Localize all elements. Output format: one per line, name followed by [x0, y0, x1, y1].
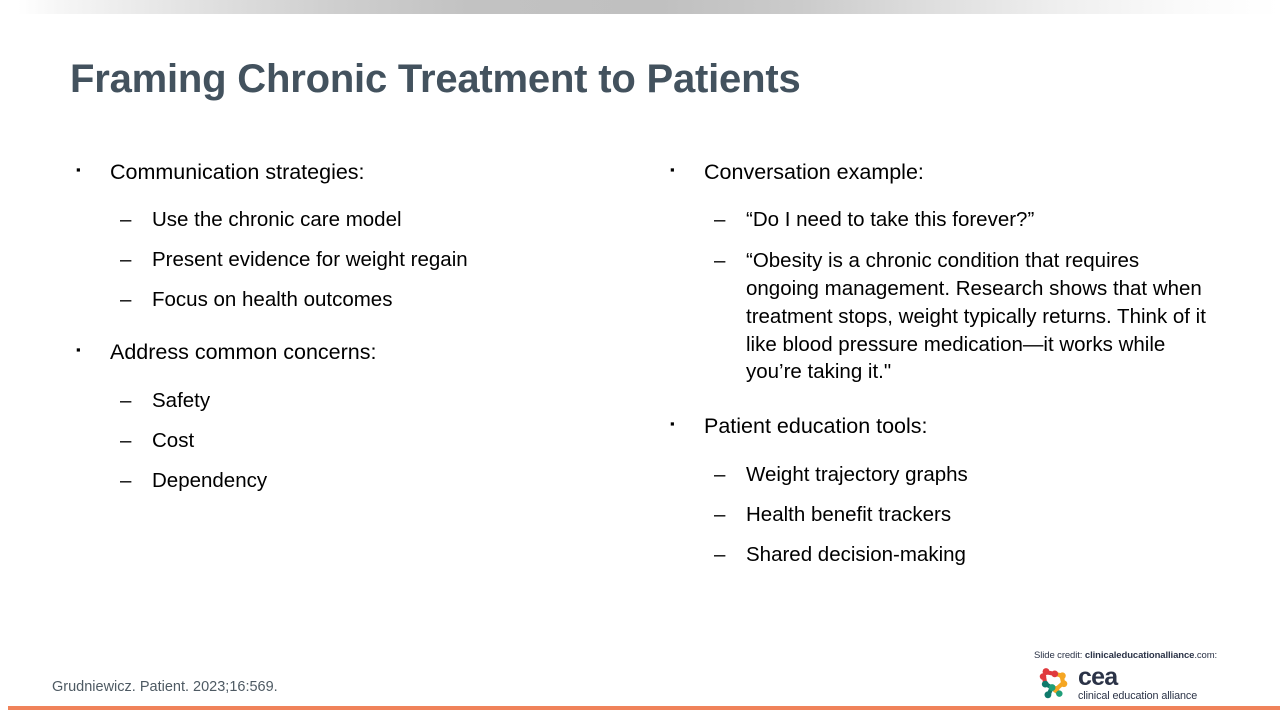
bullet-level2-present-evidence: – Present evidence for weight regain: [70, 247, 630, 272]
bullet-label: Dependency: [152, 469, 267, 492]
bullet-label: Safety: [152, 389, 210, 412]
square-bullet-icon: ▪: [670, 414, 675, 434]
slide-credit-text: Slide credit: clinicaleducationalliance.…: [1034, 650, 1234, 661]
dash-bullet-icon: –: [714, 542, 725, 567]
square-bullet-icon: ▪: [670, 160, 675, 180]
bullet-label: Address common concerns:: [110, 340, 376, 364]
bullet-label: “Do I need to take this forever?”: [746, 208, 1034, 231]
bullet-label: Shared decision-making: [746, 543, 966, 566]
slide-credit-prefix: Slide credit:: [1034, 650, 1082, 661]
dash-bullet-icon: –: [714, 462, 725, 487]
bullet-level2-health-benefit-trackers: – Health benefit trackers: [664, 502, 1209, 527]
slide-credit-suffix: .com:: [1194, 650, 1217, 661]
bullet-label: Cost: [152, 429, 194, 452]
cea-logo-word: cea: [1078, 665, 1197, 690]
bottom-accent-rule: [8, 706, 1280, 710]
bullet-label: “Obesity is a chronic condition that req…: [746, 249, 1206, 383]
source-citation: Grudniewicz. Patient. 2023;16:569.: [52, 679, 278, 695]
bullet-label: Conversation example:: [704, 160, 924, 184]
bullet-label: Communication strategies:: [110, 160, 365, 184]
page-title: Framing Chronic Treatment to Patients: [70, 57, 801, 102]
bullet-level2-chronic-care-model: – Use the chronic care model: [70, 207, 630, 232]
left-content-column: ▪ Communication strategies: – Use the ch…: [70, 160, 630, 508]
bullet-level2-weight-trajectory-graphs: – Weight trajectory graphs: [664, 462, 1209, 487]
bullet-label: Present evidence for weight regain: [152, 248, 468, 271]
bullet-label: Patient education tools:: [704, 414, 928, 438]
bullet-level1-patient-education-tools: ▪ Patient education tools:: [664, 414, 1209, 439]
bullet-level1-communication-strategies: ▪ Communication strategies:: [70, 160, 630, 185]
square-bullet-icon: ▪: [76, 340, 81, 360]
slide-credit-domain: clinicaleducationalliance: [1085, 650, 1194, 661]
top-gradient-band: [0, 0, 1280, 14]
dash-bullet-icon: –: [714, 502, 725, 527]
bullet-label: Focus on health outcomes: [152, 288, 392, 311]
dash-bullet-icon: –: [714, 247, 725, 275]
bullet-level2-dependency: – Dependency: [70, 468, 630, 493]
bullet-level2-shared-decision-making: – Shared decision-making: [664, 542, 1209, 567]
right-content-column: ▪ Conversation example: – “Do I need to …: [664, 160, 1209, 582]
dash-bullet-icon: –: [120, 287, 131, 312]
dash-bullet-icon: –: [120, 388, 131, 413]
bullet-level2-cost: – Cost: [70, 428, 630, 453]
bullet-label: Weight trajectory graphs: [746, 463, 968, 486]
dash-bullet-icon: –: [120, 247, 131, 272]
cea-wordmark: cea clinical education alliance: [1078, 665, 1197, 702]
cea-logo-tagline: clinical education alliance: [1078, 691, 1197, 702]
bullet-level1-address-common-concerns: ▪ Address common concerns:: [70, 340, 630, 365]
cea-logo: cea clinical education alliance: [1034, 664, 1234, 702]
bullet-label: Use the chronic care model: [152, 208, 402, 231]
bullet-level2-safety: – Safety: [70, 388, 630, 413]
bullet-level2-quote-forever: – “Do I need to take this forever?”: [664, 207, 1209, 232]
square-bullet-icon: ▪: [76, 160, 81, 180]
bullet-label: Health benefit trackers: [746, 503, 951, 526]
cea-molecule-logo-icon: [1034, 664, 1074, 702]
dash-bullet-icon: –: [120, 207, 131, 232]
slide: Framing Chronic Treatment to Patients ▪ …: [0, 0, 1280, 720]
bullet-level1-conversation-example: ▪ Conversation example:: [664, 160, 1209, 185]
bullet-level2-quote-chronic-condition: – “Obesity is a chronic condition that r…: [664, 247, 1209, 386]
dash-bullet-icon: –: [714, 207, 725, 232]
bullet-level2-health-outcomes: – Focus on health outcomes: [70, 287, 630, 312]
slide-credit-block: Slide credit: clinicaleducationalliance.…: [1034, 650, 1234, 702]
dash-bullet-icon: –: [120, 428, 131, 453]
dash-bullet-icon: –: [120, 468, 131, 493]
